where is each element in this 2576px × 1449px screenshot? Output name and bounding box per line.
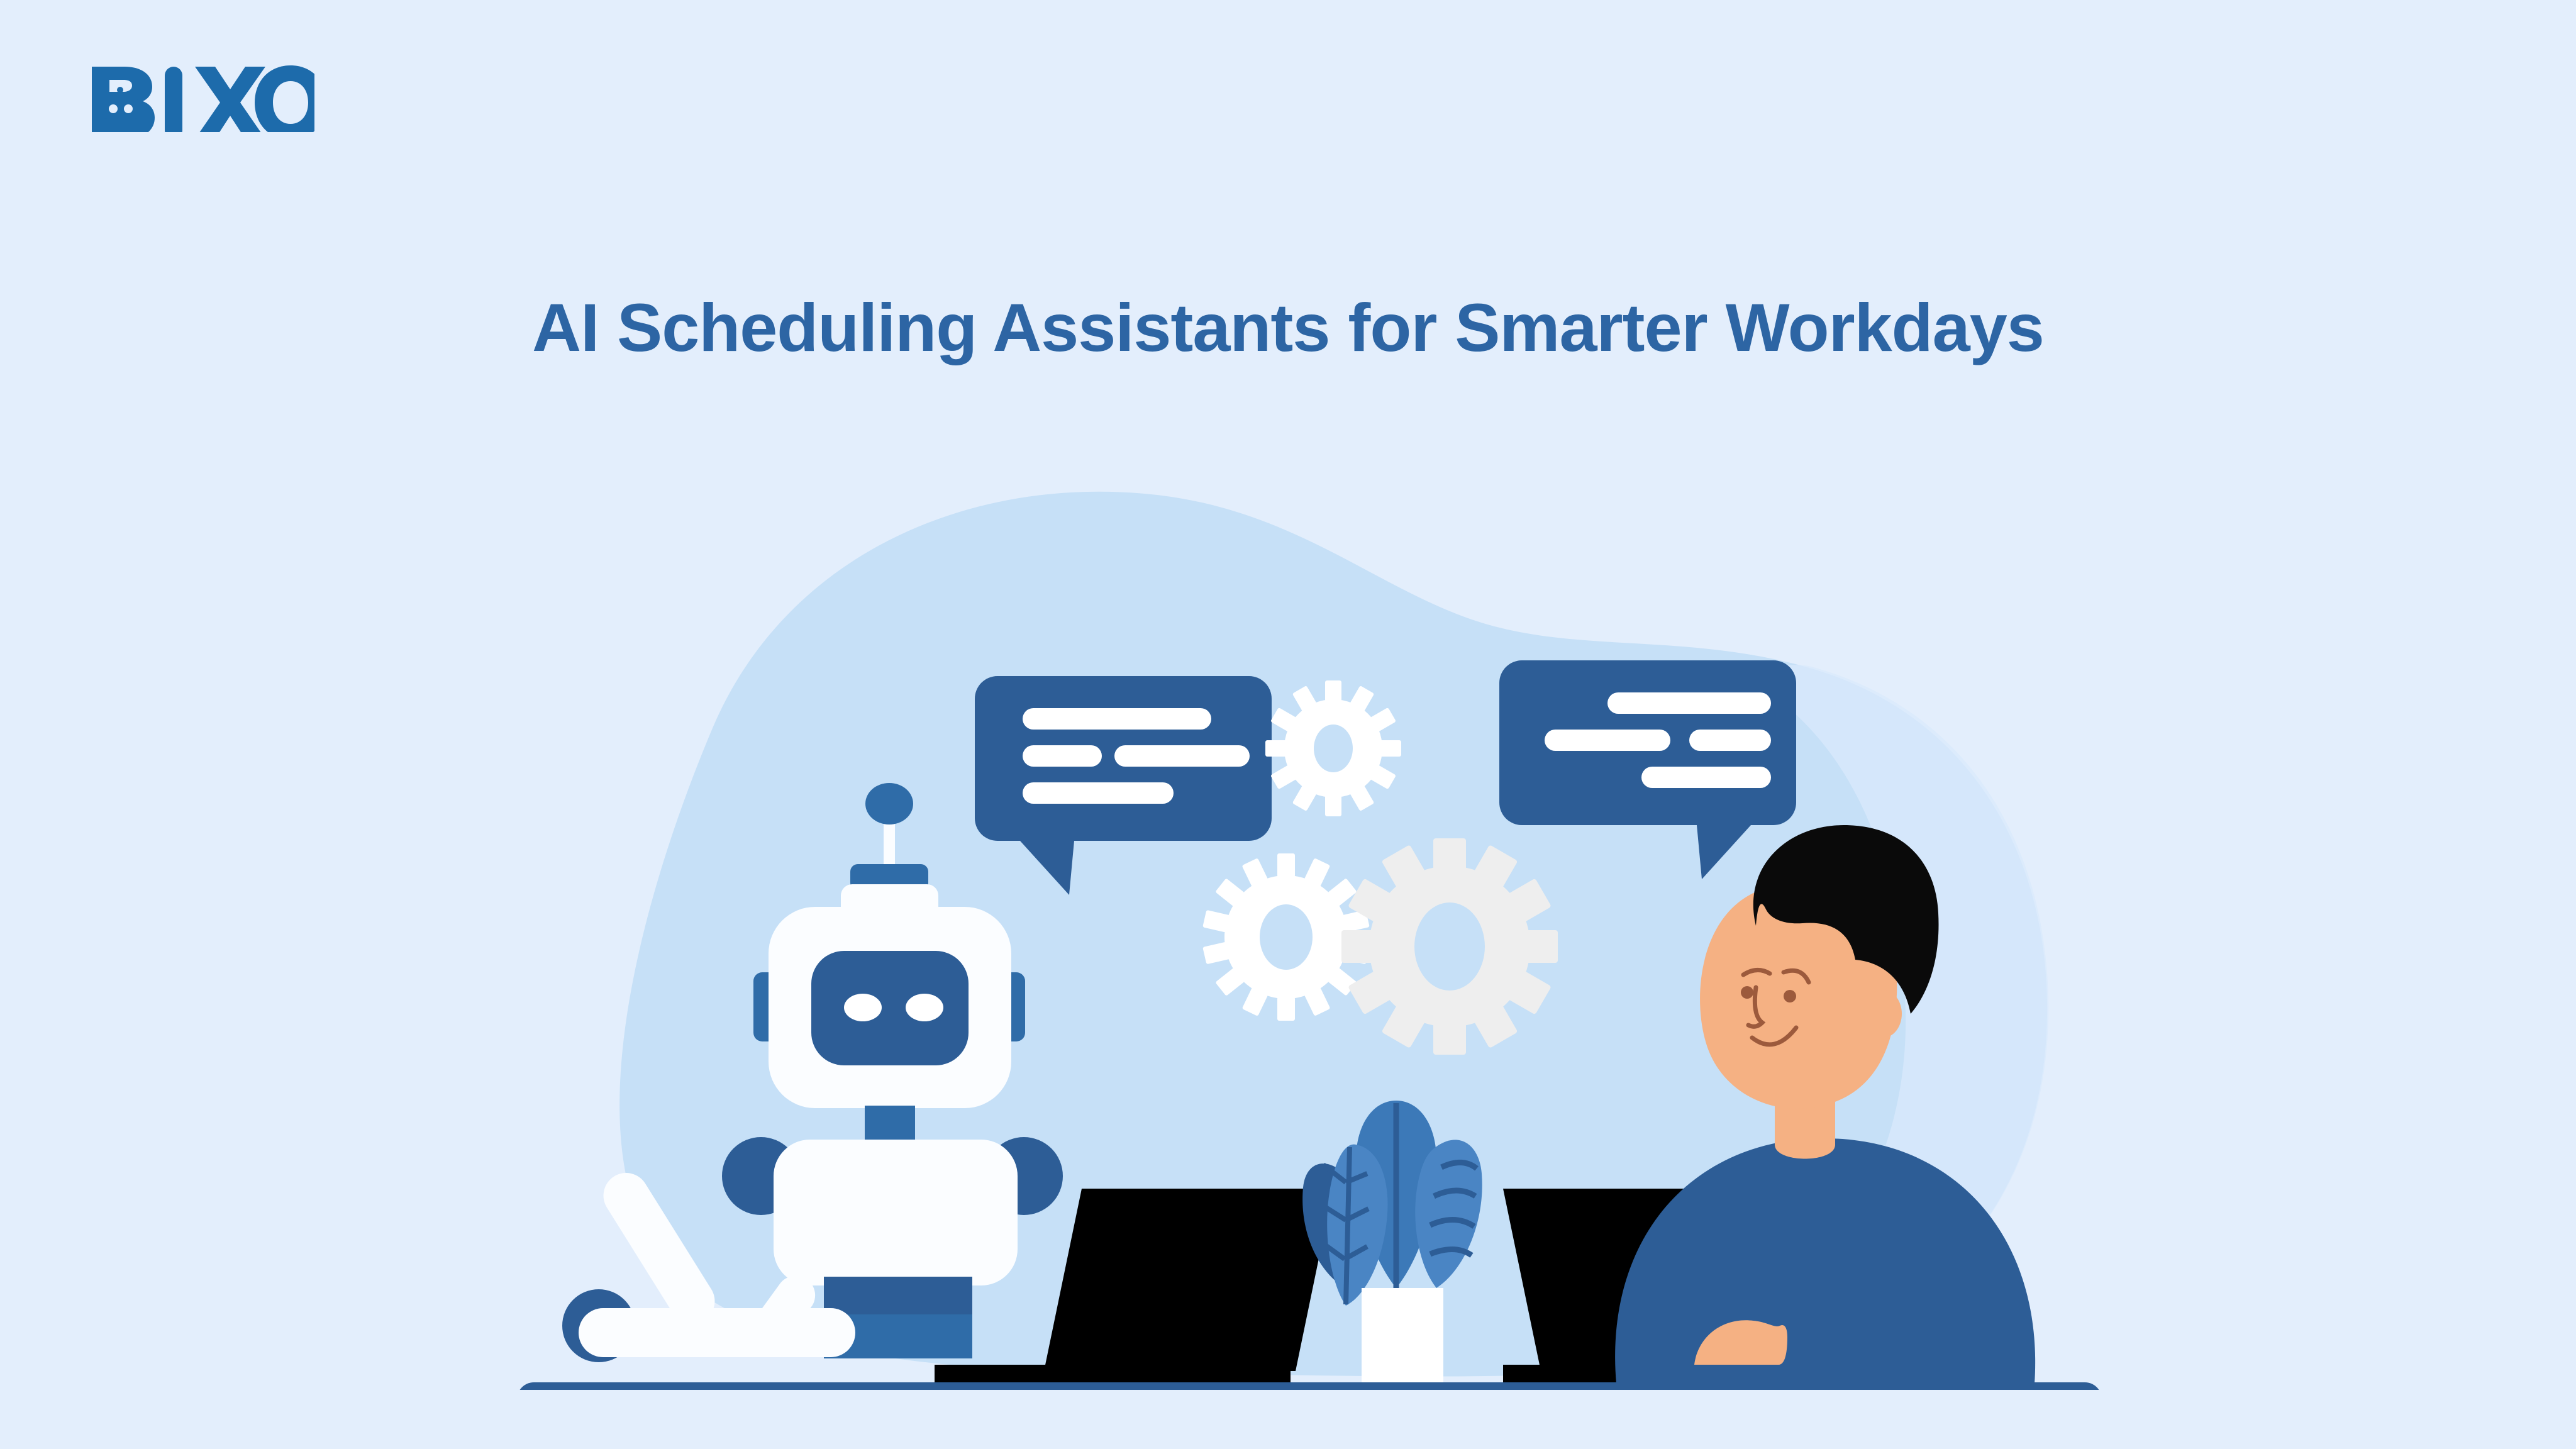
bubble-text-line [1023,708,1211,730]
plant-pot [1362,1288,1443,1384]
robot-eye-left [844,994,882,1021]
robot-eye-right [906,994,943,1021]
robot-torso [774,1140,1018,1285]
hero-illustration [491,459,2151,1390]
person-ear [1864,990,1902,1038]
bubble-text-line [1641,767,1771,788]
bubble-text-line [1023,782,1174,804]
laptop-screen [1044,1189,1333,1371]
brand-logo[interactable] [88,63,314,132]
poster-canvas: AI Scheduling Assistants for Smarter Wor… [0,0,2576,1449]
bubble-text-line [1023,745,1102,767]
person-eye-right [1784,990,1796,1002]
robot-visor [811,951,969,1065]
bubble-text-line [1689,730,1771,751]
robot-forearm [579,1308,855,1357]
page-title: AI Scheduling Assistants for Smarter Wor… [0,291,2576,365]
person-eye-left [1741,986,1753,999]
bubble-text-line [1607,692,1771,714]
bubble-text-line [1545,730,1670,751]
robot-antenna-ball [865,783,913,824]
robot-neck [865,1106,915,1145]
bixo-logo-icon [88,63,314,132]
bubble-text-line [1114,745,1250,767]
laptop-base [935,1365,1291,1382]
desk-surface [517,1382,2102,1390]
